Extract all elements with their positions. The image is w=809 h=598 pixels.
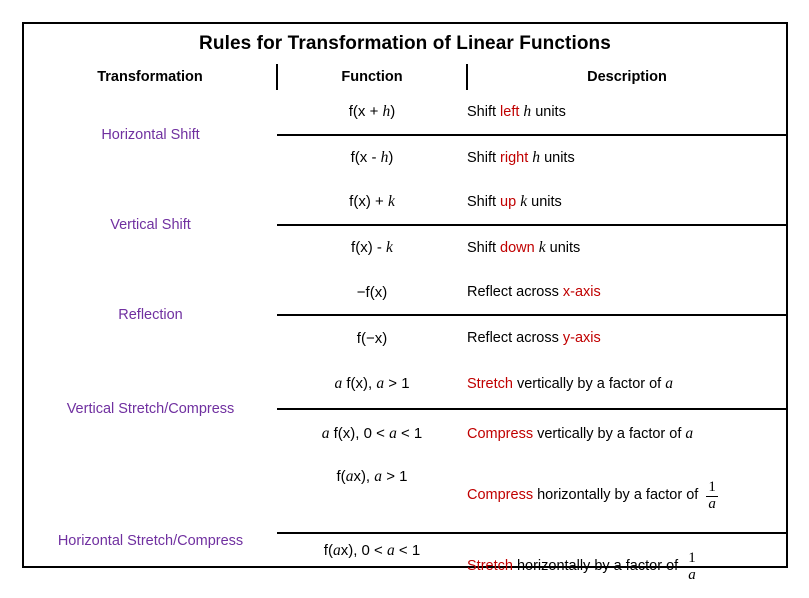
function-expression: f(x) - k (351, 239, 393, 256)
function-cell: f(x) + k (277, 180, 467, 225)
description-text: Shift up k units (467, 194, 562, 210)
column-header-function: Function (277, 64, 467, 90)
desc-suffix: horizontally by a factor of (513, 558, 682, 574)
header-row: Transformation Function Description (24, 64, 786, 90)
description-cell: Stretch vertically by a factor of a (467, 360, 786, 409)
function-cell: f(ax), 0 < a < 1 (277, 533, 467, 598)
function-text-mid: x), 0 < (341, 542, 387, 559)
description-text: Shift right h units (467, 150, 575, 166)
description-cell: Shift left h units (467, 90, 786, 135)
function-cell: a f(x), 0 < a < 1 (277, 409, 467, 458)
description-cell: Reflect across x-axis (467, 270, 786, 315)
desc-variable: a (665, 375, 673, 392)
function-text: f( (337, 468, 346, 485)
column-header-description: Description (467, 64, 786, 90)
desc-variable: k (539, 239, 546, 256)
table-row: Vertical Stretch/Compress a f(x), a > 1 … (24, 360, 786, 409)
function-cell: f(x + h) (277, 90, 467, 135)
desc-variable: h (532, 149, 540, 166)
fraction-one-over-a: 1a (706, 480, 718, 513)
fraction-denominator: a (706, 496, 718, 513)
function-expression: −f(x) (357, 284, 387, 301)
category-horizontal-shift: Horizontal Shift (24, 90, 277, 180)
table-row: Vertical Shift f(x) + k Shift up k units (24, 180, 786, 225)
category-reflection: Reflection (24, 270, 277, 360)
description-text: Compress horizontally by a factor of 1a (467, 487, 718, 503)
description-cell: Compress vertically by a factor of a (467, 409, 786, 458)
desc-prefix: Reflect across (467, 284, 563, 300)
description-text: Reflect across x-axis (467, 284, 601, 300)
description-text: Reflect across y-axis (467, 330, 601, 346)
category-horizontal-stretch-compress: Horizontal Stretch/Compress (24, 458, 277, 598)
desc-highlight: down (500, 240, 535, 256)
desc-suffix: vertically by a factor of (513, 376, 665, 392)
category-vertical-stretch-compress: Vertical Stretch/Compress (24, 360, 277, 458)
description-cell: Compress horizontally by a factor of 1a (467, 458, 786, 533)
desc-suffix: horizontally by a factor of (533, 487, 702, 503)
fraction-numerator: 1 (686, 551, 698, 567)
description-text: Shift left h units (467, 104, 566, 120)
desc-suffix: units (527, 194, 562, 210)
function-expression: f(x) + k (349, 193, 395, 210)
page-title: Rules for Transformation of Linear Funct… (24, 24, 786, 64)
desc-suffix: units (531, 104, 566, 120)
fraction-numerator: 1 (706, 480, 718, 496)
function-variable: a (333, 542, 341, 559)
table-row: Reflection −f(x) Reflect across x-axis (24, 270, 786, 315)
description-cell: Shift right h units (467, 135, 786, 180)
description-cell: Reflect across y-axis (467, 315, 786, 360)
rules-table: Rules for Transformation of Linear Funct… (24, 24, 786, 598)
desc-variable: h (523, 103, 531, 120)
function-cell: f(ax), a > 1 (277, 458, 467, 533)
desc-highlight: y-axis (563, 330, 601, 346)
function-text-suffix: ) (388, 149, 393, 166)
desc-suffix: units (546, 240, 581, 256)
column-header-transformation: Transformation (24, 64, 277, 90)
function-expression: f(−x) (357, 330, 387, 347)
description-text: Stretch horizontally by a factor of 1a (467, 558, 698, 574)
function-text: f(x + (349, 103, 383, 120)
desc-prefix: Shift (467, 194, 500, 210)
function-text-suffix: > 1 (384, 375, 409, 392)
function-text: f( (324, 542, 333, 559)
function-cell: −f(x) (277, 270, 467, 315)
desc-highlight: x-axis (563, 284, 601, 300)
description-cell: Shift up k units (467, 180, 786, 225)
function-variable: k (388, 193, 395, 210)
function-text: f(x) + (349, 193, 388, 210)
function-cell: a f(x), a > 1 (277, 360, 467, 409)
desc-highlight: Stretch (467, 376, 513, 392)
title-row: Rules for Transformation of Linear Funct… (24, 24, 786, 64)
function-text-suffix: < 1 (395, 542, 420, 559)
function-expression: a f(x), a > 1 (334, 375, 409, 392)
function-text-mid: x), (353, 468, 374, 485)
function-expression: a f(x), 0 < a < 1 (322, 425, 423, 442)
description-cell: Stretch horizontally by a factor of 1a (467, 533, 786, 598)
description-text: Stretch vertically by a factor of a (467, 376, 673, 392)
desc-prefix: Shift (467, 240, 500, 256)
fraction-denominator: a (686, 567, 698, 584)
desc-highlight: Stretch (467, 558, 513, 574)
desc-suffix: vertically by a factor of (533, 426, 685, 442)
category-vertical-shift: Vertical Shift (24, 180, 277, 270)
function-expression: f(x + h) (349, 103, 396, 120)
function-expression: f(ax), a > 1 (337, 468, 408, 485)
description-text: Compress vertically by a factor of a (467, 426, 693, 442)
function-cell: f(−x) (277, 315, 467, 360)
description-text: Shift down k units (467, 240, 580, 256)
function-variable-2: a (389, 425, 397, 442)
function-cell: f(x) - k (277, 225, 467, 270)
function-text-suffix: < 1 (397, 425, 422, 442)
desc-highlight: left (500, 104, 519, 120)
desc-suffix: units (540, 150, 575, 166)
desc-variable: a (685, 425, 693, 442)
function-expression: f(x - h) (351, 149, 394, 166)
function-text-suffix: > 1 (382, 468, 407, 485)
desc-highlight: Compress (467, 487, 533, 503)
function-text: f(x), (342, 375, 376, 392)
desc-highlight: up (500, 194, 516, 210)
table-row: Horizontal Stretch/Compress f(ax), a > 1… (24, 458, 786, 533)
desc-highlight: right (500, 150, 528, 166)
desc-prefix: Reflect across (467, 330, 563, 346)
desc-prefix: Shift (467, 104, 500, 120)
function-text: f(x) - (351, 239, 386, 256)
table-row: Horizontal Shift f(x + h) Shift left h u… (24, 90, 786, 135)
rules-table-container: Rules for Transformation of Linear Funct… (22, 22, 788, 568)
description-cell: Shift down k units (467, 225, 786, 270)
function-variable: k (386, 239, 393, 256)
function-cell: f(x - h) (277, 135, 467, 180)
function-text: f(x - (351, 149, 381, 166)
desc-prefix: Shift (467, 150, 500, 166)
page-root: Rules for Transformation of Linear Funct… (0, 0, 809, 583)
desc-highlight: Compress (467, 426, 533, 442)
function-expression: f(ax), 0 < a < 1 (324, 542, 420, 559)
fraction-one-over-a: 1a (686, 551, 698, 584)
function-text-suffix: ) (390, 103, 395, 120)
function-text: f(x), 0 < (329, 425, 389, 442)
function-variable-2: a (374, 468, 382, 485)
function-variable-2: a (387, 542, 395, 559)
function-variable-2: a (376, 375, 384, 392)
